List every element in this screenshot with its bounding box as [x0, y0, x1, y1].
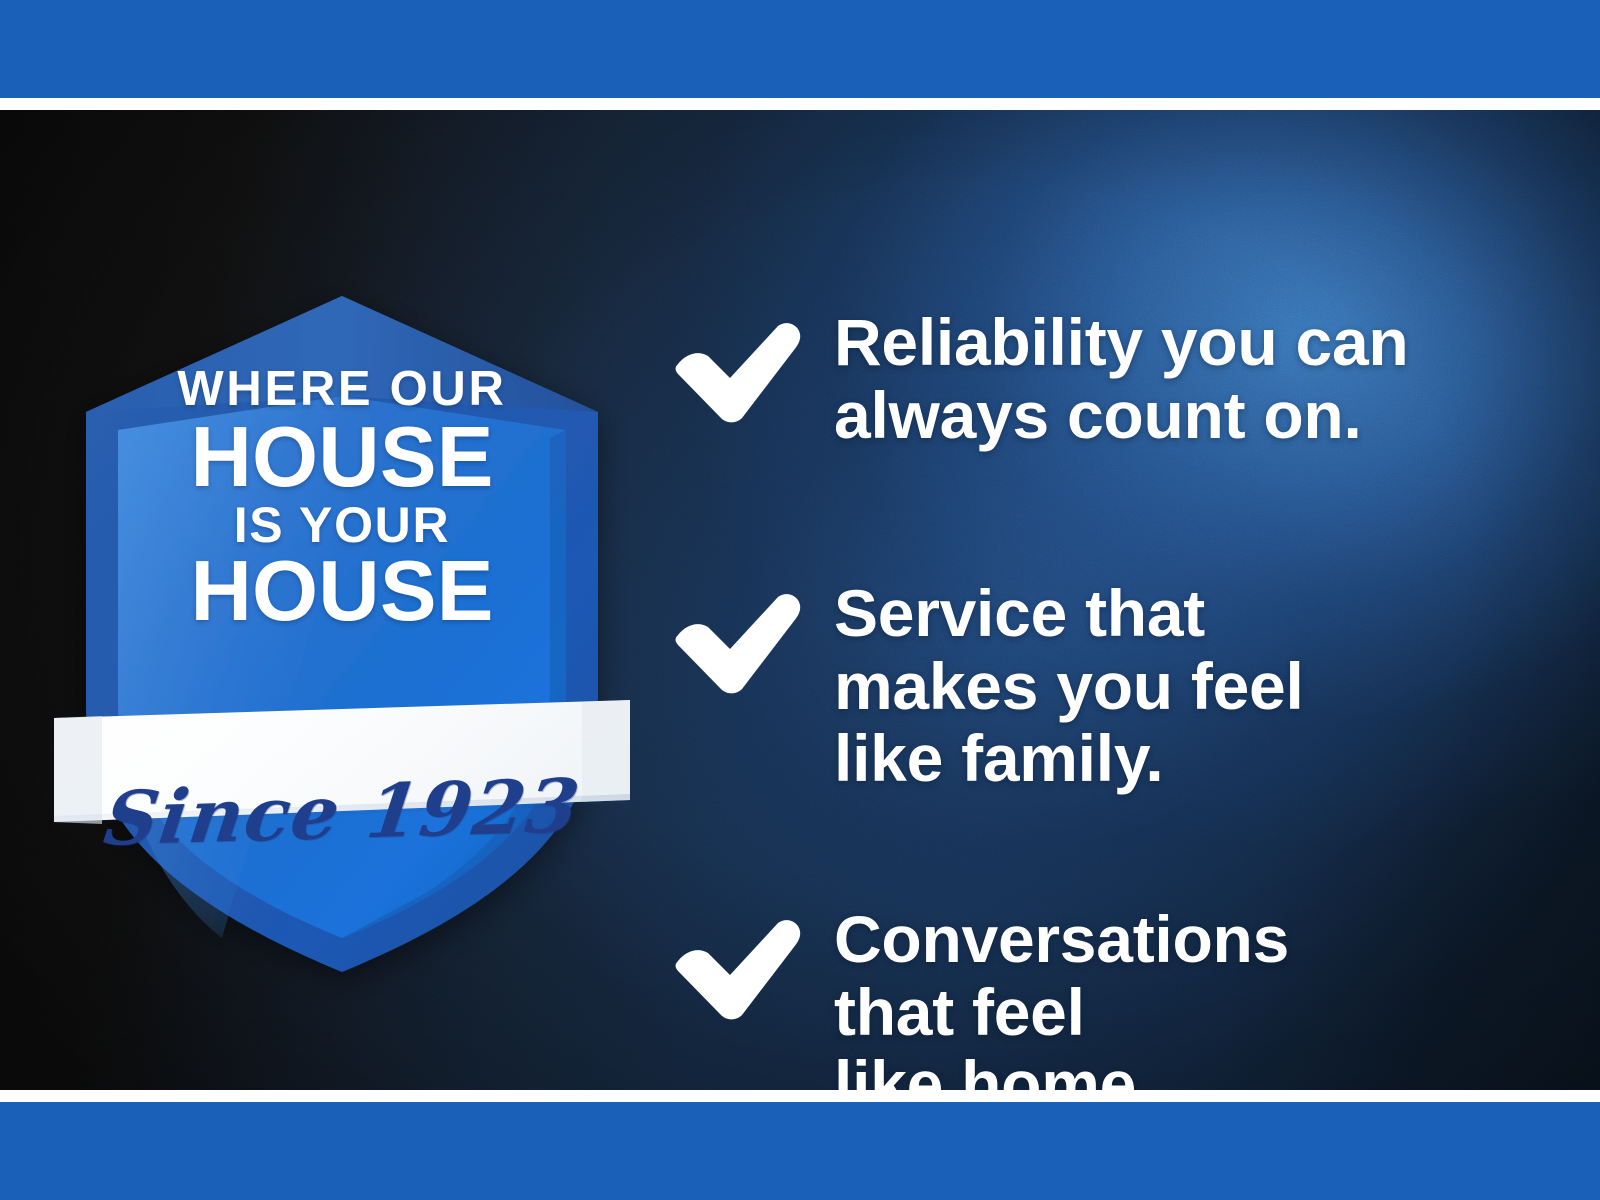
benefit-3-line-3: like home.	[834, 1048, 1512, 1090]
benefit-1-line-2: always count on.	[834, 379, 1512, 452]
benefit-2-line-3: like family.	[834, 722, 1512, 795]
check-icon	[672, 903, 804, 1021]
benefit-text-1: Reliability you can always count on.	[834, 306, 1512, 451]
shield-badge: WHERE OUR HOUSE IS YOUR HOUSE Since 1923	[72, 270, 612, 960]
benefit-item-2: Service that makes you feel like family.	[672, 577, 1512, 795]
shield-graphic	[72, 270, 612, 960]
ribbon-banner	[54, 700, 630, 826]
benefit-text-2: Service that makes you feel like family.	[834, 577, 1512, 795]
benefit-item-1: Reliability you can always count on.	[672, 306, 1512, 451]
check-icon-glyph	[672, 917, 804, 1021]
check-icon	[672, 306, 804, 424]
check-icon-glyph	[672, 591, 804, 695]
check-icon	[672, 577, 804, 695]
benefit-3-line-2: that feel	[834, 976, 1512, 1049]
benefit-text-3: Conversations that feel like home.	[834, 903, 1512, 1090]
benefit-item-3: Conversations that feel like home.	[672, 903, 1512, 1090]
bottom-white-divider	[0, 1090, 1600, 1102]
benefit-2-line-2: makes you feel	[834, 650, 1512, 723]
top-white-divider	[0, 98, 1600, 110]
bottom-brand-bar	[0, 1102, 1600, 1200]
benefit-1-line-1: Reliability you can	[834, 306, 1512, 379]
benefit-3-line-1: Conversations	[834, 903, 1512, 976]
poster-stage: WHERE OUR HOUSE IS YOUR HOUSE Since 1923…	[0, 110, 1600, 1090]
promotional-poster: WHERE OUR HOUSE IS YOUR HOUSE Since 1923…	[0, 0, 1600, 1200]
check-icon-glyph	[672, 320, 804, 424]
top-brand-bar	[0, 0, 1600, 98]
benefit-2-line-1: Service that	[834, 577, 1512, 650]
benefits-list: Reliability you can always count on. Ser…	[672, 306, 1512, 1090]
